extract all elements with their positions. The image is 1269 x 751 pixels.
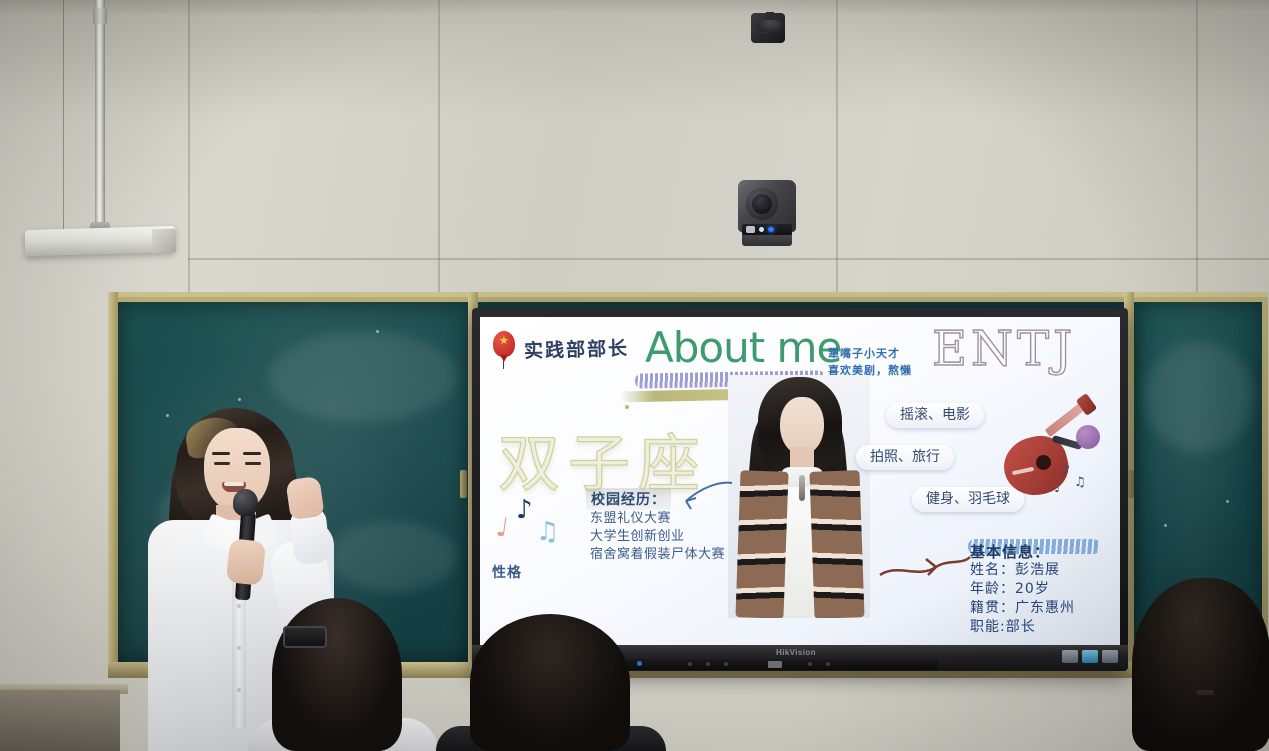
presenter-hand-holding-mic bbox=[226, 538, 266, 586]
presentation-slide: ★ 实践部部长 About me 犟嘴子小天才 喜欢美剧，熬懒 ENTJ 双子座 bbox=[480, 317, 1120, 645]
basic-info-value-age: 20岁 bbox=[1015, 581, 1050, 597]
indicator-icon-2 bbox=[1082, 650, 1098, 663]
presenter-brow-left bbox=[212, 452, 230, 455]
basic-info-label-age: 年龄： bbox=[970, 581, 1015, 597]
mbti-type-text: ENTJ bbox=[932, 321, 1076, 377]
display-control-dot-4[interactable] bbox=[808, 662, 812, 666]
balloon-icon: ★ bbox=[490, 331, 516, 365]
presenter-raised-fist bbox=[285, 476, 324, 520]
wall-seam-left bbox=[188, 0, 190, 292]
curved-arrow-icon bbox=[676, 479, 736, 513]
basic-info-heading: 基本信息： bbox=[970, 541, 1050, 562]
display-control-dot-2[interactable] bbox=[706, 662, 710, 666]
experience-heading: 校园经历： bbox=[586, 488, 671, 510]
presenter-eye-right bbox=[245, 462, 261, 465]
brush-dot bbox=[625, 405, 629, 409]
ceiling-light-pole bbox=[95, 0, 105, 232]
student-right-hair bbox=[1132, 578, 1269, 751]
presenter-brow-right bbox=[243, 452, 261, 455]
display-brand-logo: HikVision bbox=[748, 648, 844, 658]
indicator-icon-3 bbox=[1102, 650, 1118, 663]
ptz-status-led-blue bbox=[768, 227, 774, 232]
basic-info-value-hometown: 广东惠州 bbox=[1015, 600, 1075, 616]
slide-tagline-line1: 犟嘴子小天才 bbox=[828, 345, 900, 361]
wall-top-shading bbox=[0, 0, 1269, 120]
basic-info-row-hometown: 籍贯：广东惠州 bbox=[970, 599, 1075, 618]
shirt-button-3 bbox=[237, 646, 241, 650]
hair-clip-icon bbox=[283, 626, 327, 648]
experience-list: 东盟礼仪大赛 大学生创新创业 宿舍窝着假装尸体大赛 bbox=[590, 510, 725, 564]
experience-item-2: 大学生创新创业 bbox=[590, 528, 725, 546]
wall-seam-mid bbox=[438, 0, 440, 292]
ptz-status-led-white bbox=[759, 227, 764, 232]
basic-info-row-role: 职能:部长 bbox=[970, 618, 1075, 637]
student-center-hair bbox=[470, 614, 630, 751]
shirt-button-2 bbox=[237, 604, 241, 608]
basic-info-value-role: 部长 bbox=[1006, 619, 1036, 635]
student-left-hair bbox=[272, 598, 402, 751]
basic-info-row-age: 年龄：20岁 bbox=[970, 580, 1075, 599]
slide-role-title: 实践部部长 bbox=[524, 334, 630, 364]
guitar-icon: ♪ ♫ ♩ bbox=[1004, 389, 1110, 501]
music-note-icon: ♩ ♪ ♫ bbox=[494, 495, 564, 557]
wall-seam-horizontal bbox=[188, 258, 1269, 260]
ptz-ir-emitter bbox=[746, 226, 755, 233]
chalkboard-rail-left bbox=[108, 292, 118, 670]
ptz-camera-icon bbox=[738, 180, 796, 246]
classroom-screenshot: ★ 实践部部长 About me 犟嘴子小天才 喜欢美剧，熬懒 ENTJ 双子座 bbox=[0, 0, 1269, 751]
basic-info-label-role: 职能: bbox=[970, 619, 1006, 635]
presenter-teeth bbox=[224, 482, 244, 486]
display-usb-port[interactable] bbox=[768, 661, 782, 668]
basic-info-label-name: 姓名： bbox=[970, 562, 1015, 578]
handheld-microphone-icon bbox=[233, 489, 258, 516]
experience-item-3: 宿舍窝着假装尸体大赛 bbox=[590, 546, 725, 564]
light-pole-collar bbox=[93, 8, 107, 24]
interest-tag-1: 摇滚、电影 bbox=[886, 403, 984, 428]
personality-label: 性格 bbox=[492, 562, 522, 582]
display-control-dot-5[interactable] bbox=[826, 662, 830, 666]
slide-heading: About me bbox=[645, 323, 841, 372]
teacher-desk bbox=[0, 690, 120, 751]
display-corner-indicators bbox=[1062, 650, 1120, 666]
chalkboard-clip-left bbox=[460, 470, 467, 498]
chalkboard-clip-right bbox=[1127, 470, 1134, 498]
display-control-dot-1[interactable] bbox=[688, 662, 692, 666]
portrait-photo bbox=[728, 375, 870, 618]
basic-info-value-name: 彭浩展 bbox=[1015, 562, 1060, 578]
indicator-icon-1 bbox=[1062, 650, 1078, 663]
ribbon-icon bbox=[878, 545, 974, 589]
display-power-led bbox=[637, 661, 642, 666]
basic-info-list: 姓名：彭浩展 年龄：20岁 籍贯：广东惠州 职能:部长 bbox=[970, 561, 1075, 637]
interest-tag-2: 拍照、旅行 bbox=[856, 445, 954, 470]
presenter-eye-left bbox=[214, 462, 230, 465]
light-fixture-end-cap bbox=[152, 229, 176, 254]
basic-info-row-name: 姓名：彭浩展 bbox=[970, 561, 1075, 580]
wall-seam-far-right bbox=[1196, 0, 1198, 292]
display-screen[interactable]: ★ 实践部部长 About me 犟嘴子小天才 喜欢美剧，熬懒 ENTJ 双子座 bbox=[480, 317, 1120, 645]
ceiling-camera-mount bbox=[757, 20, 783, 32]
wall-seam-right bbox=[836, 0, 838, 292]
basic-info-label-hometown: 籍贯： bbox=[970, 600, 1015, 616]
student-right-eye bbox=[1196, 690, 1214, 695]
ptz-lens-icon bbox=[752, 194, 772, 214]
shirt-button-4 bbox=[237, 688, 241, 692]
light-hanging-cable bbox=[63, 0, 64, 250]
display-control-dot-3[interactable] bbox=[724, 662, 728, 666]
